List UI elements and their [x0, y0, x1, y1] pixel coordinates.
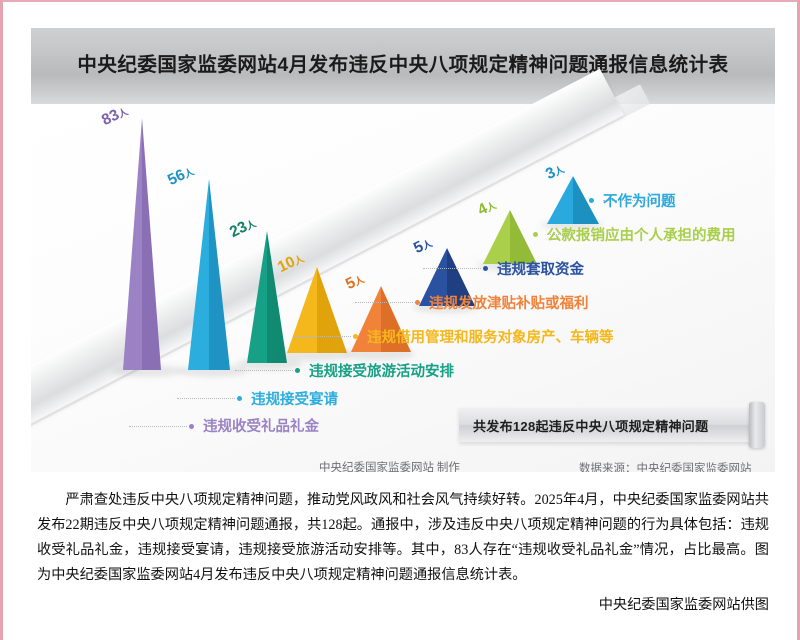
label-dot-4 — [353, 334, 358, 339]
bar-face-right — [317, 267, 347, 353]
bar-face-right — [267, 231, 287, 363]
bar-face-right — [209, 179, 230, 370]
total-ribbon: 共发布128起违反中央八项规定精神问题 — [459, 408, 757, 442]
leader-line-3 — [235, 370, 293, 371]
label-allowances: 违规发放津贴补贴或福利 — [429, 292, 589, 313]
bar-face-left — [287, 267, 317, 353]
bar-face-left — [483, 210, 510, 264]
label-borrowing: 违规借用管理和服务对象房产、车辆等 — [367, 326, 614, 347]
article-byline: 中央纪委国家监委网站供图 — [37, 594, 769, 614]
leader-line-6 — [423, 268, 481, 269]
chart-title: 中央纪委国家监委网站4月发布违反中央八项规定精神问题通报信息统计表 — [31, 48, 775, 77]
leader-line-4 — [293, 336, 351, 337]
bar-face-left — [188, 179, 209, 370]
total-ribbon-text: 共发布128起违反中央八项规定精神问题 — [473, 416, 708, 435]
label-banquets: 违规接受宴请 — [251, 388, 338, 409]
credit-source: 数据来源：中央纪委国家监委网站 — [579, 460, 752, 472]
label-dot-2 — [237, 396, 242, 401]
bar-face-left — [123, 118, 142, 370]
infographic-card: 中央纪委国家监委网站4月发布违反中央八项规定精神问题通报信息统计表 — [31, 28, 775, 472]
label-tourism: 违规接受旅游活动安排 — [309, 360, 454, 381]
label-dot-7 — [533, 232, 538, 237]
chart-canvas: 83人 56人 23人 10人 5人 5人 4人 3人 不作为问题 公款报销应由… — [31, 104, 775, 472]
leader-line-2 — [177, 398, 235, 399]
bar-face-right — [142, 118, 161, 370]
label-dot-3 — [295, 368, 300, 373]
bar-face-left — [247, 231, 267, 363]
label-dot-8 — [589, 198, 594, 203]
bar-face-right — [510, 210, 537, 264]
label-dot-5 — [415, 300, 420, 305]
label-dot-1 — [189, 424, 194, 429]
leader-line-1 — [129, 426, 187, 427]
label-public-reimbursement: 公款报销应由个人承担的费用 — [547, 224, 736, 245]
ribbon-curl-icon — [749, 402, 765, 448]
bar-face-right — [573, 176, 599, 224]
label-gifts: 违规收受礼品礼金 — [203, 415, 319, 436]
credit-producer: 中央纪委国家监委网站 制作 — [319, 459, 460, 472]
article-body: 严肃查处违反中央八项规定精神问题，推动党风政风和社会风气持续好转。2025年4月… — [37, 488, 769, 588]
label-inaction: 不作为问题 — [603, 190, 676, 211]
label-funds: 违规套取资金 — [497, 258, 584, 279]
leader-line-5 — [355, 302, 413, 303]
page-root: 中央纪委国家监委网站4月发布违反中央八项规定精神问题通报信息统计表 — [0, 0, 800, 640]
label-dot-6 — [483, 266, 488, 271]
